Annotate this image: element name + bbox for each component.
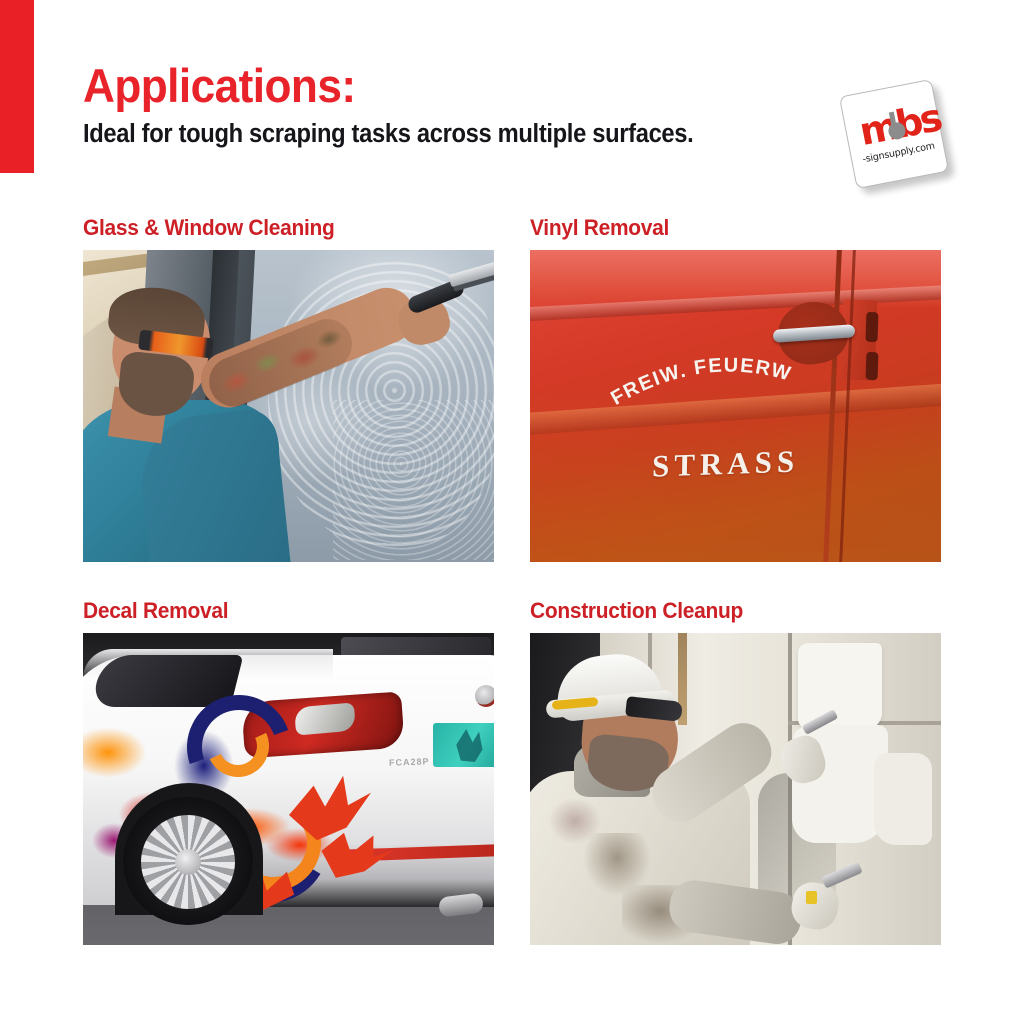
car-brand-badge bbox=[475, 685, 494, 707]
car-model-badge-text: FCA28P bbox=[389, 756, 430, 767]
vinyl-text-line1: FREIW. FEUERWEHR bbox=[599, 339, 795, 410]
vinyl-lettering-arc: FREIW. FEUERWEHR bbox=[607, 356, 788, 419]
photo-decal-removal: FCA28P bbox=[83, 633, 494, 945]
soap-suds-secondary bbox=[333, 400, 494, 560]
vinyl-text-line2: STRASS bbox=[652, 443, 800, 484]
glove-label-tag bbox=[806, 891, 817, 904]
brand-logo[interactable]: mbs -signsupply.com bbox=[842, 84, 950, 192]
page-subtitle: Ideal for tough scraping tasks across mu… bbox=[83, 120, 771, 149]
plaster-patch-upper bbox=[798, 643, 882, 729]
page-title: Applications: bbox=[83, 62, 779, 110]
card-title-construction-cleanup: Construction Cleanup bbox=[530, 598, 912, 624]
car-exhaust-tip bbox=[438, 892, 484, 917]
accent-bar bbox=[0, 0, 34, 173]
card-construction-cleanup: Construction Cleanup bbox=[530, 598, 941, 945]
poster-canvas: Applications: Ideal for tough scraping t… bbox=[0, 0, 1024, 1024]
photo-glass-window-cleaning bbox=[83, 250, 494, 562]
car-wheel-hub bbox=[175, 849, 201, 875]
card-vinyl-removal: Vinyl Removal bbox=[530, 215, 941, 562]
card-glass-window-cleaning: Glass & Window Cleaning bbox=[83, 215, 494, 562]
header: Applications: Ideal for tough scraping t… bbox=[83, 62, 823, 148]
photo-vinyl-removal: FREIW. FEUERWEHR STRASS bbox=[530, 250, 941, 562]
card-decal-removal: Decal Removal FCA28P bbox=[83, 598, 494, 945]
truck-door-hinge-upper bbox=[865, 312, 878, 342]
photo-construction-cleanup bbox=[530, 633, 941, 945]
logo-inner: mbs -signsupply.com bbox=[840, 80, 950, 190]
card-title-glass-window-cleaning: Glass & Window Cleaning bbox=[83, 215, 465, 241]
applications-grid: Glass & Window Cleaning bbox=[83, 215, 941, 945]
truck-door-hinge-lower bbox=[866, 352, 879, 380]
card-title-decal-removal: Decal Removal bbox=[83, 598, 465, 624]
grid-row-1: Glass & Window Cleaning bbox=[83, 215, 941, 562]
grid-row-2: Decal Removal FCA28P bbox=[83, 598, 941, 945]
plaster-patch-right bbox=[874, 753, 932, 845]
logo-card: mbs -signsupply.com bbox=[839, 79, 949, 189]
card-title-vinyl-removal: Vinyl Removal bbox=[530, 215, 912, 241]
